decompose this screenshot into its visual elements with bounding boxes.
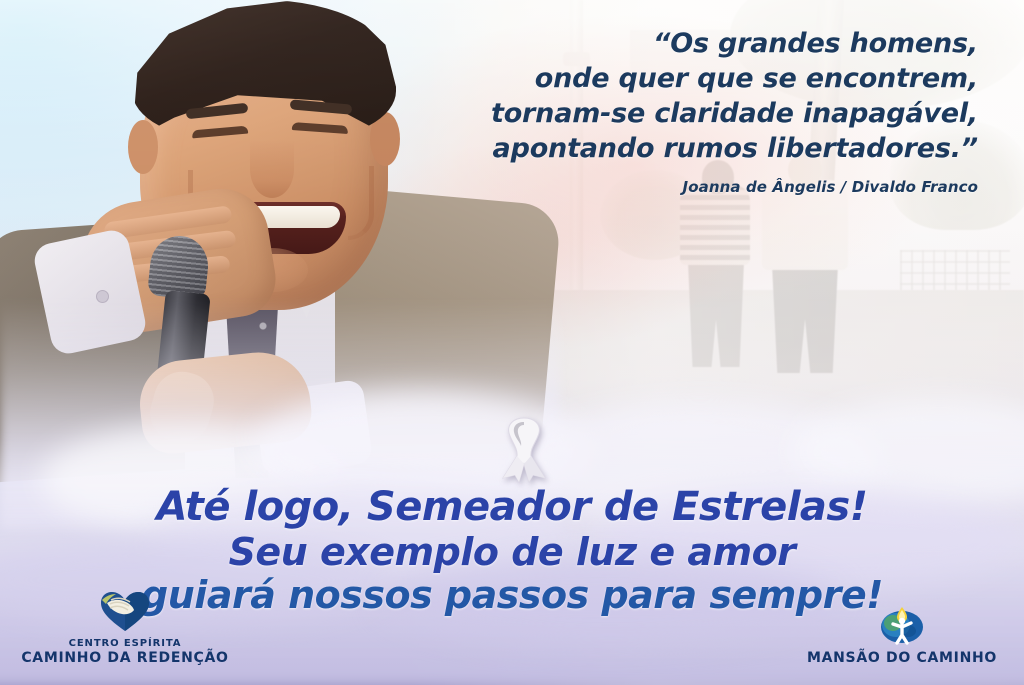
memorial-poster: “Os grandes homens, onde quer que se enc… <box>0 0 1024 685</box>
headline-line-2: Seu exemplo de luz e amor <box>0 533 1024 573</box>
logo-left-line-1: CENTRO ESPÍRITA <box>20 638 230 651</box>
quote-line-3: tornam-se claridade inapagável, <box>358 96 978 131</box>
quote-block: “Os grandes homens, onde quer que se enc… <box>358 26 978 196</box>
quote-line-1: “Os grandes homens, <box>358 26 978 61</box>
headline-line-1: Até logo, Semeador de Estrelas! <box>0 487 1024 529</box>
quote-line-2: onde quer que se encontrem, <box>358 61 978 96</box>
heart-hands-icon <box>99 591 151 633</box>
logo-right-line-1: MANSÃO DO CAMINHO <box>792 650 1012 667</box>
globe-figure-flame-icon <box>878 601 926 645</box>
mourning-ribbon-icon <box>493 412 555 482</box>
logo-mansao-do-caminho: MANSÃO DO CAMINHO <box>792 601 1012 667</box>
portrait-ear-left <box>128 120 158 174</box>
logo-left-line-2: CAMINHO DA REDENÇÃO <box>20 650 230 667</box>
quote-line-4: apontando rumos libertadores.” <box>358 131 978 166</box>
logo-centro-espirita-caminho-da-redencao: CENTRO ESPÍRITA CAMINHO DA REDENÇÃO <box>20 591 230 667</box>
portrait-nose <box>250 140 294 198</box>
quote-attribution: Joanna de Ângelis / Divaldo Franco <box>358 178 978 196</box>
